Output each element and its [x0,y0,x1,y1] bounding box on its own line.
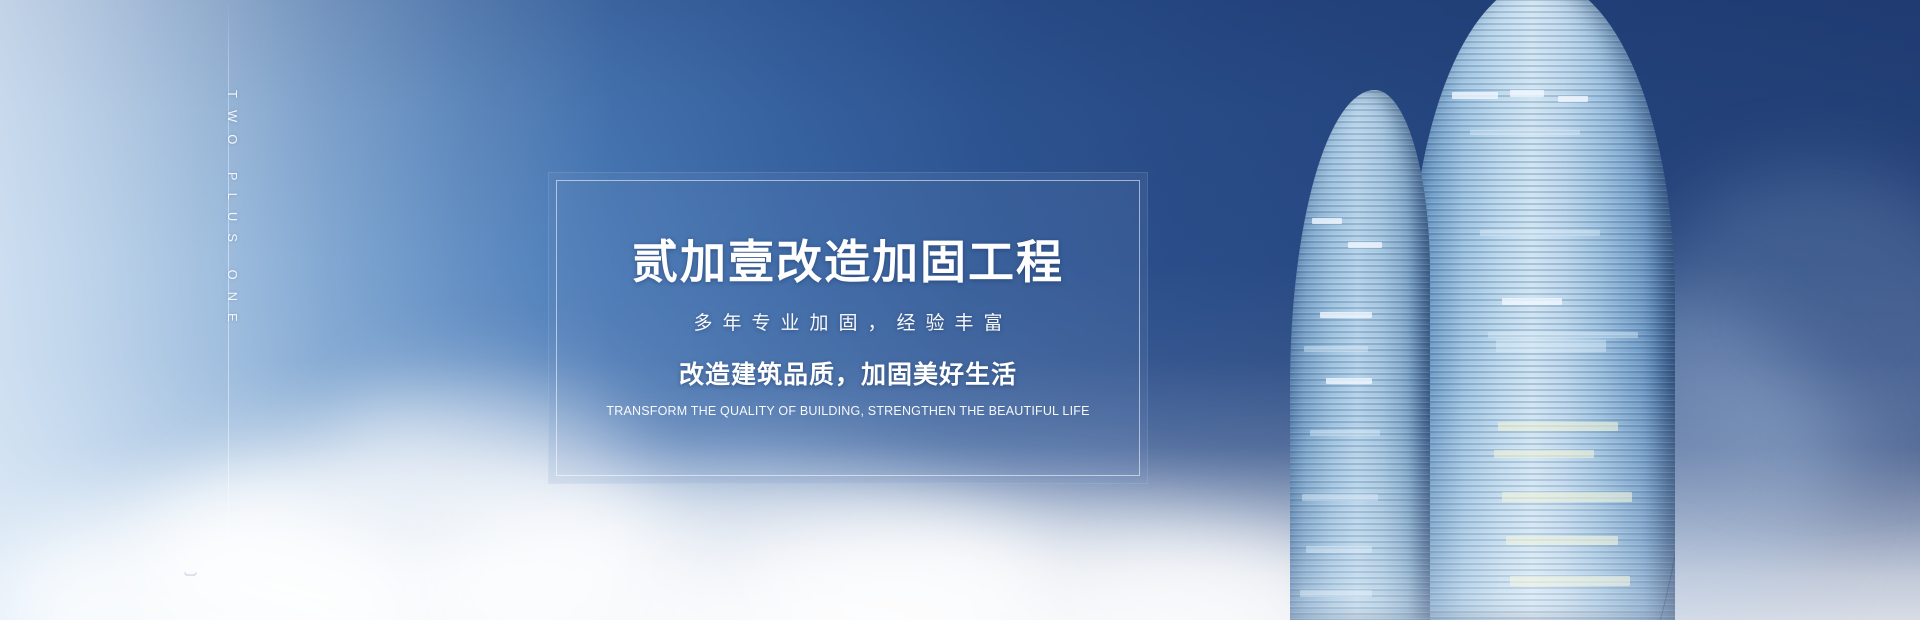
tower-shading [1290,90,1430,620]
hero-slogan: 改造建筑品质，加固美好生活 [679,360,1017,390]
tower-shading [1410,0,1675,620]
hero-content: 贰加壹改造加固工程 多年专业加固，经验丰富 改造建筑品质，加固美好生活 TRAN… [548,172,1148,484]
hero-subtitle: 多年专业加固，经验丰富 [683,313,1012,336]
brand-corner-mark: 〕 [178,572,196,586]
tower-front [1290,90,1430,620]
skyscrapers-illustration [1290,0,1920,620]
brand-vertical-text: TWO PLUS ONE [216,90,240,334]
hero-banner: TWO PLUS ONE 〕 贰加壹改造加固工程 多年专业加固，经验丰富 改造建… [0,0,1920,620]
hero-english-tagline: TRANSFORM THE QUALITY OF BUILDING, STREN… [606,404,1089,419]
tower-rear [1410,0,1675,620]
hero-text-box: 贰加壹改造加固工程 多年专业加固，经验丰富 改造建筑品质，加固美好生活 TRAN… [548,172,1148,484]
hero-title: 贰加壹改造加固工程 [632,237,1064,288]
